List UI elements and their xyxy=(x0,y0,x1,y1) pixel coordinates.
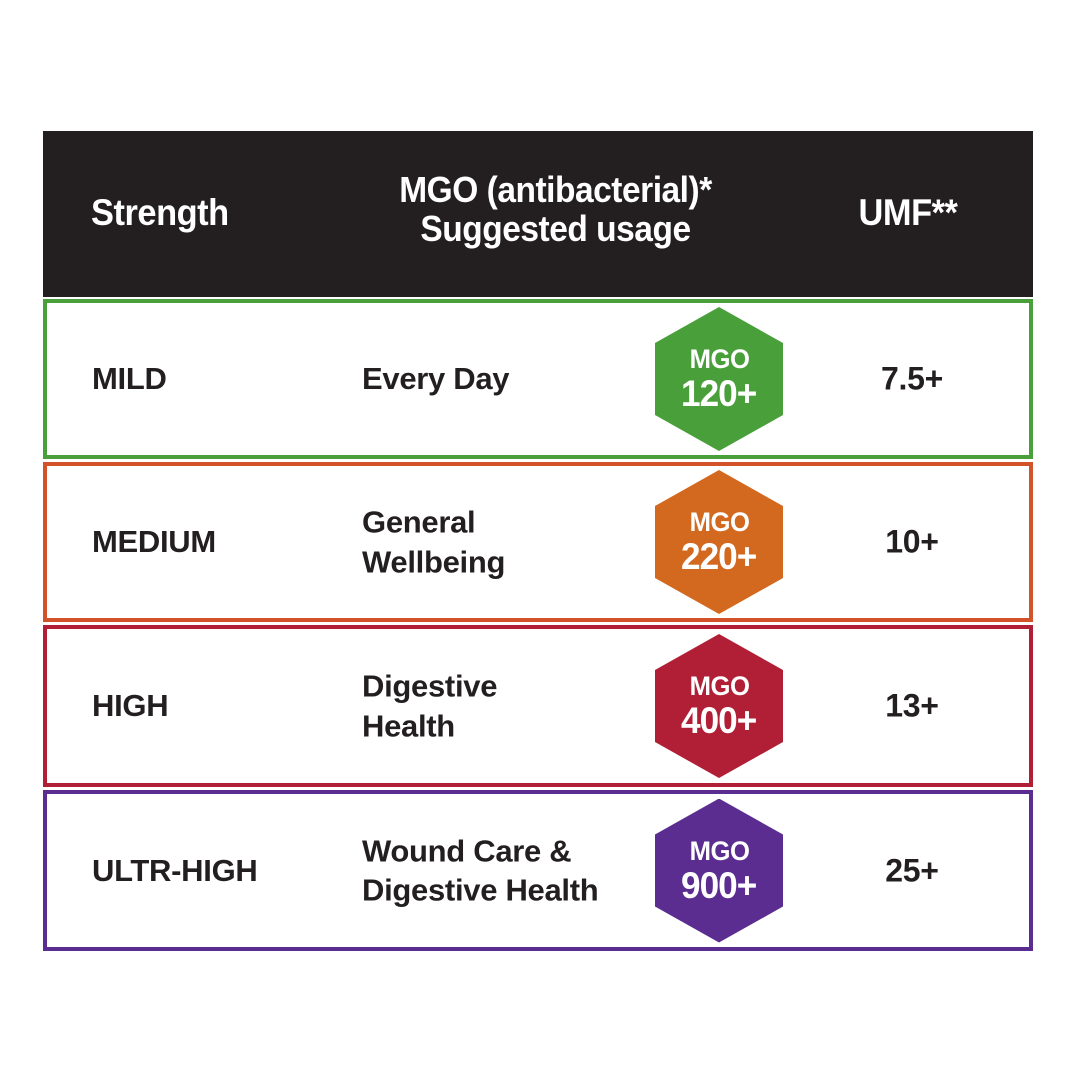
mgo-badge: MGO 400+ xyxy=(655,634,783,778)
mgo-badge-text: MGO 220+ xyxy=(655,470,783,614)
row-usage-text: General Wellbeing xyxy=(362,502,662,581)
mgo-badge-prefix: MGO xyxy=(689,346,749,373)
row-usage-line2: Wellbeing xyxy=(362,542,662,582)
table-row: HIGH Digestive Health MGO 400+ 13+ xyxy=(43,625,1033,787)
table-row: MILD Every Day MGO 120+ 7.5+ xyxy=(43,299,1033,459)
header-mgo-line1: MGO (antibacterial)* xyxy=(335,171,777,210)
row-usage-text: Every Day xyxy=(362,359,662,399)
row-usage-text: Wound Care & Digestive Health xyxy=(362,831,662,910)
row-usage-line1: Digestive xyxy=(362,666,662,706)
header-mgo: MGO (antibacterial)* Suggested usage xyxy=(335,171,777,249)
mgo-badge-value: 400+ xyxy=(681,702,756,739)
row-strength-label: MEDIUM xyxy=(92,524,216,560)
row-strength-label: HIGH xyxy=(92,688,168,724)
row-umf-value: 7.5+ xyxy=(807,361,1017,398)
mgo-badge-value: 120+ xyxy=(681,375,756,412)
mgo-badge-text: MGO 900+ xyxy=(655,799,783,943)
row-usage-line2: Digestive Health xyxy=(362,871,662,911)
row-umf-value: 13+ xyxy=(807,688,1017,725)
row-usage-text: Digestive Health xyxy=(362,666,662,745)
mgo-badge: MGO 120+ xyxy=(655,307,783,451)
mgo-badge-text: MGO 400+ xyxy=(655,634,783,778)
row-usage-line1: Every Day xyxy=(362,359,662,399)
row-umf-value: 10+ xyxy=(807,524,1017,561)
table-header: Strength MGO (antibacterial)* Suggested … xyxy=(43,131,1033,297)
mgo-strength-table: Strength MGO (antibacterial)* Suggested … xyxy=(43,131,1033,951)
mgo-badge-prefix: MGO xyxy=(689,673,749,700)
mgo-badge-prefix: MGO xyxy=(689,509,749,536)
mgo-badge-value: 220+ xyxy=(681,538,756,575)
row-umf-value: 25+ xyxy=(807,852,1017,889)
mgo-badge: MGO 900+ xyxy=(655,799,783,943)
mgo-badge-text: MGO 120+ xyxy=(655,307,783,451)
mgo-badge-value: 900+ xyxy=(681,867,756,904)
mgo-badge-prefix: MGO xyxy=(689,838,749,865)
table-row: ULTR-HIGH Wound Care & Digestive Health … xyxy=(43,790,1033,951)
header-umf: UMF** xyxy=(810,193,1005,233)
mgo-badge: MGO 220+ xyxy=(655,470,783,614)
row-strength-label: MILD xyxy=(92,361,167,397)
header-mgo-line2: Suggested usage xyxy=(335,210,777,249)
header-strength: Strength xyxy=(91,193,229,233)
row-usage-line1: General xyxy=(362,502,662,542)
row-strength-label: ULTR-HIGH xyxy=(92,853,257,889)
row-usage-line1: Wound Care & xyxy=(362,831,662,871)
table-row: MEDIUM General Wellbeing MGO 220+ 10+ xyxy=(43,462,1033,622)
row-usage-line2: Health xyxy=(362,706,662,746)
